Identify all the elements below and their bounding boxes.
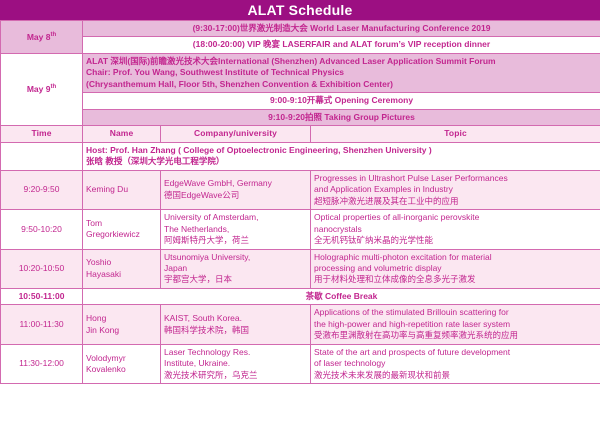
forum-title-block: ALAT 深圳(国际)前瞻激光技术大会International (Shenzh… [83, 53, 600, 92]
column-header-topic: Topic [311, 126, 600, 142]
session-speaker: Volodymyr Kovalenko [83, 344, 161, 383]
org-line-1: EdgeWave GmbH, Germany [164, 178, 307, 189]
day-label-text: May 8 [27, 32, 51, 42]
table-row: 10:50-11:00 茶歇 Coffee Break [1, 288, 600, 304]
group-pictures-row: 9:10-9:20拍照 Taking Group Pictures [83, 109, 600, 125]
table-row: 10:20-10:50 Yoshio Hayasaki Utsunomiya U… [1, 249, 600, 288]
topic-line-2: processing and volumetric display [314, 263, 597, 274]
speaker-line-2: Jin Kong [86, 325, 157, 336]
table-row: 9:20-9:50 Keming Du EdgeWave GmbH, Germa… [1, 170, 600, 209]
topic-line-1: Holographic multi-photon excitation for … [314, 252, 597, 263]
org-line-cn: 激光技术研究所，乌克兰 [164, 370, 307, 381]
column-header-company: Company/university [161, 126, 311, 142]
speaker-line-1: Yoshio [86, 257, 157, 268]
speaker-line-2: Hayasaki [86, 269, 157, 280]
day-label-sup: th [50, 32, 56, 38]
topic-line-cn: 受激布里渊散射在高功率与高重复频率激光系统的应用 [314, 330, 597, 341]
column-header-time: Time [1, 126, 83, 142]
session-time: 9:50-10:20 [1, 210, 83, 249]
session-topic: Holographic multi-photon excitation for … [311, 249, 600, 288]
day-label-sup: th [50, 84, 56, 90]
org-line-1: Utsunomiya University, [164, 252, 307, 263]
session-time: 11:30-12:00 [1, 344, 83, 383]
session-time: 11:00-11:30 [1, 305, 83, 344]
session-speaker: Tom Gregorkiewicz [83, 210, 161, 249]
host-line-cn: 张晗 教授（深圳大学光电工程学院） [86, 156, 597, 167]
day-label-text: May 9 [27, 84, 51, 94]
org-line-cn: 阿姆斯特丹大学，荷兰 [164, 235, 307, 246]
table-row: 11:30-12:00 Volodymyr Kovalenko Laser Te… [1, 344, 600, 383]
speaker-line-1: Keming Du [86, 184, 157, 195]
topic-line-cn: 用于材料处理和立体成像的全息多光子激发 [314, 274, 597, 285]
day-label-may9: May 9th [1, 53, 83, 125]
session-topic: Progresses in Ultrashort Pulse Laser Per… [311, 170, 600, 209]
topic-line-1: Optical properties of all-inorganic pero… [314, 212, 597, 223]
org-line-2: Japan [164, 263, 307, 274]
org-line-1: KAIST, South Korea. [164, 313, 307, 324]
forum-line-2: Chair: Prof. You Wang, Southwest Institu… [86, 67, 597, 78]
table-row: 9:50-10:20 Tom Gregorkiewicz University … [1, 210, 600, 249]
table-row: May 8th (9:30-17:00)世界激光制造大会 World Laser… [1, 21, 600, 37]
topic-line-1: State of the art and prospects of future… [314, 347, 597, 358]
schedule-table: May 8th (9:30-17:00)世界激光制造大会 World Laser… [0, 20, 600, 384]
table-row: 9:00-9:10开幕式 Opening Ceremony [1, 93, 600, 109]
session-time: 9:20-9:50 [1, 170, 83, 209]
coffee-break-label: 茶歇 Coffee Break [83, 288, 600, 304]
org-line-cn: 宇都宫大学，日本 [164, 274, 307, 285]
session-org: University of Amsterdam, The Netherlands… [161, 210, 311, 249]
org-line-2: The Netherlands, [164, 224, 307, 235]
coffee-break-time: 10:50-11:00 [1, 288, 83, 304]
session-org: Utsunomiya University, Japan 宇都宫大学，日本 [161, 249, 311, 288]
table-header-row: Time Name Company/university Topic [1, 126, 600, 142]
topic-line-2: nanocrystals [314, 224, 597, 235]
topic-line-1: Applications of the stimulated Brillouin… [314, 307, 597, 318]
session-org: Laser Technology Res. Institute, Ukraine… [161, 344, 311, 383]
forum-line-3: (Chrysanthemum Hall, Floor 5th, Shenzhen… [86, 79, 597, 90]
session-org: KAIST, South Korea. 韩国科学技术院，韩国 [161, 305, 311, 344]
day-label-may8: May 8th [1, 21, 83, 54]
session-speaker: Keming Du [83, 170, 161, 209]
topic-line-2: and Application Examples in Industry [314, 184, 597, 195]
table-row: 11:00-11:30 Hong Jin Kong KAIST, South K… [1, 305, 600, 344]
table-row: (18:00-20:00) VIP 晚宴 LASERFAIR and ALAT … [1, 37, 600, 53]
session-time: 10:20-10:50 [1, 249, 83, 288]
org-line-cn: 韩国科学技术院，韩国 [164, 325, 307, 336]
topic-line-1: Progresses in Ultrashort Pulse Laser Per… [314, 173, 597, 184]
topic-line-cn: 激光技术未来发展的最新现状和前景 [314, 370, 597, 381]
org-line-2: Institute, Ukraine. [164, 358, 307, 369]
may8-event-2: (18:00-20:00) VIP 晚宴 LASERFAIR and ALAT … [83, 37, 600, 53]
opening-ceremony-row: 9:00-9:10开幕式 Opening Ceremony [83, 93, 600, 109]
host-info: Host: Prof. Han Zhang ( College of Optoe… [83, 142, 600, 170]
session-topic: State of the art and prospects of future… [311, 344, 600, 383]
host-row-spacer [1, 142, 83, 170]
host-line-en: Host: Prof. Han Zhang ( College of Optoe… [86, 145, 597, 156]
speaker-line-1: Tom [86, 218, 157, 229]
schedule-page: ALAT Schedule May 8th (9:30-17:00)世界激光制造… [0, 0, 600, 439]
org-line-cn: 德国EdgeWave公司 [164, 190, 307, 201]
org-line-1: Laser Technology Res. [164, 347, 307, 358]
session-topic: Optical properties of all-inorganic pero… [311, 210, 600, 249]
speaker-line-2: Gregorkiewicz [86, 229, 157, 240]
session-speaker: Yoshio Hayasaki [83, 249, 161, 288]
topic-line-cn: 超短脉冲激光进展及其在工业中的应用 [314, 196, 597, 207]
session-topic: Applications of the stimulated Brillouin… [311, 305, 600, 344]
topic-line-2: the high-power and high-repetition rate … [314, 319, 597, 330]
page-title: ALAT Schedule [0, 0, 600, 20]
session-org: EdgeWave GmbH, Germany 德国EdgeWave公司 [161, 170, 311, 209]
topic-line-2: of laser technology [314, 358, 597, 369]
speaker-line-2: Kovalenko [86, 364, 157, 375]
may8-event-1: (9:30-17:00)世界激光制造大会 World Laser Manufac… [83, 21, 600, 37]
session-speaker: Hong Jin Kong [83, 305, 161, 344]
column-header-name: Name [83, 126, 161, 142]
forum-line-1: ALAT 深圳(国际)前瞻激光技术大会International (Shenzh… [86, 56, 597, 67]
table-row: Host: Prof. Han Zhang ( College of Optoe… [1, 142, 600, 170]
table-row: 9:10-9:20拍照 Taking Group Pictures [1, 109, 600, 125]
speaker-line-1: Hong [86, 313, 157, 324]
org-line-1: University of Amsterdam, [164, 212, 307, 223]
speaker-line-1: Volodymyr [86, 353, 157, 364]
topic-line-cn: 全无机钙钛矿纳米晶的光学性能 [314, 235, 597, 246]
table-row: May 9th ALAT 深圳(国际)前瞻激光技术大会International… [1, 53, 600, 92]
